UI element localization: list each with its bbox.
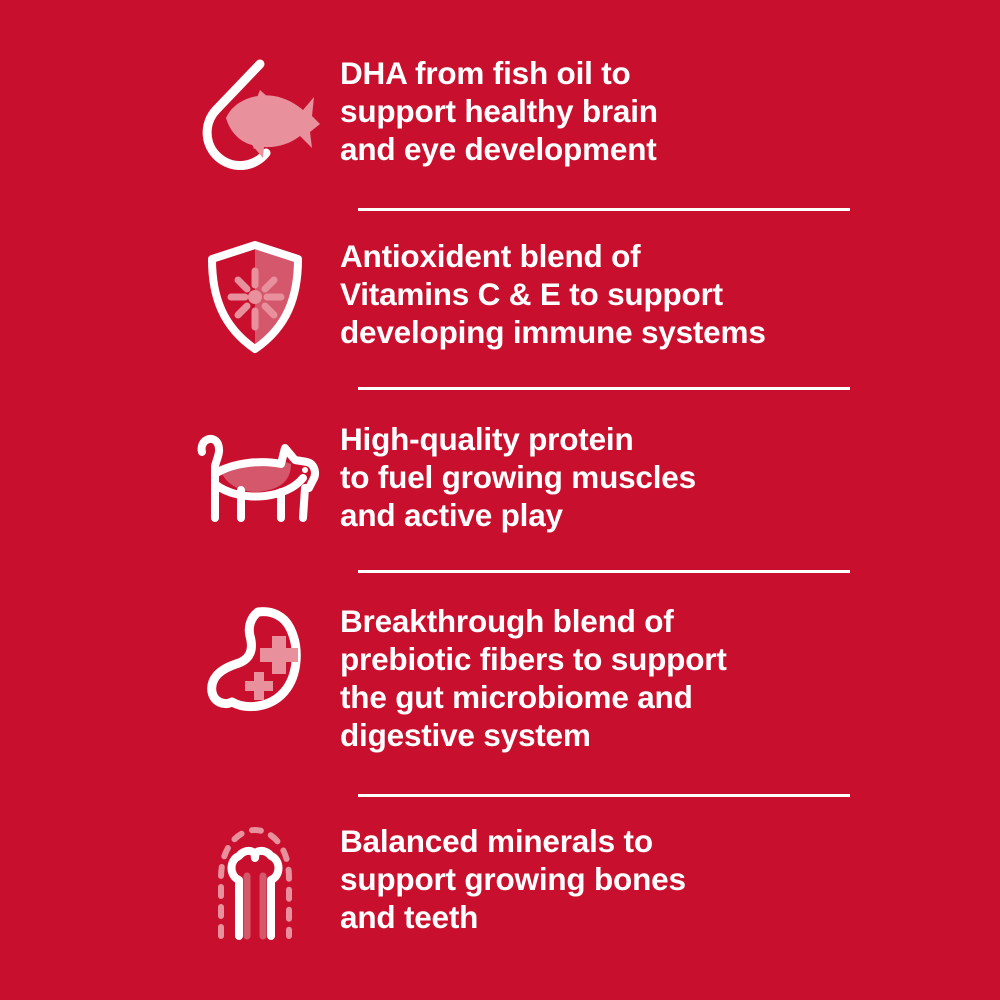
bone-icon: [170, 820, 340, 942]
fish-oil-droplet-icon: [170, 52, 340, 174]
dog-muscle-icon: [170, 418, 340, 534]
benefit-text-cell: Antioxident blend of Vitamins C & E to s…: [340, 235, 870, 351]
shield-burst-icon: [170, 235, 340, 361]
benefit-item-prebiotic: Breakthrough blend of prebiotic fibers t…: [170, 600, 870, 754]
benefit-text: Balanced minerals to support growing bon…: [340, 822, 870, 936]
benefit-item-dha: DHA from fish oil to support healthy bra…: [170, 52, 870, 174]
benefit-text-cell: High-quality protein to fuel growing mus…: [340, 418, 870, 534]
benefit-divider: [358, 570, 850, 573]
benefit-text: Antioxident blend of Vitamins C & E to s…: [340, 237, 870, 351]
benefits-panel: DHA from fish oil to support healthy bra…: [0, 0, 1000, 1000]
benefit-text: Breakthrough blend of prebiotic fibers t…: [340, 602, 870, 754]
benefit-text-cell: Breakthrough blend of prebiotic fibers t…: [340, 600, 870, 754]
benefit-text-cell: DHA from fish oil to support healthy bra…: [340, 52, 870, 168]
benefits-list: DHA from fish oil to support healthy bra…: [0, 0, 1000, 1000]
benefit-item-protein: High-quality protein to fuel growing mus…: [170, 418, 870, 534]
benefit-item-minerals: Balanced minerals to support growing bon…: [170, 820, 870, 942]
benefit-text: High-quality protein to fuel growing mus…: [340, 420, 870, 534]
stomach-plus-icon: [170, 600, 340, 722]
benefit-divider: [358, 794, 850, 797]
benefit-divider: [358, 387, 850, 390]
benefit-item-antioxidant: Antioxident blend of Vitamins C & E to s…: [170, 235, 870, 361]
benefit-divider: [358, 208, 850, 211]
benefit-text: DHA from fish oil to support healthy bra…: [340, 54, 870, 168]
benefit-text-cell: Balanced minerals to support growing bon…: [340, 820, 870, 936]
